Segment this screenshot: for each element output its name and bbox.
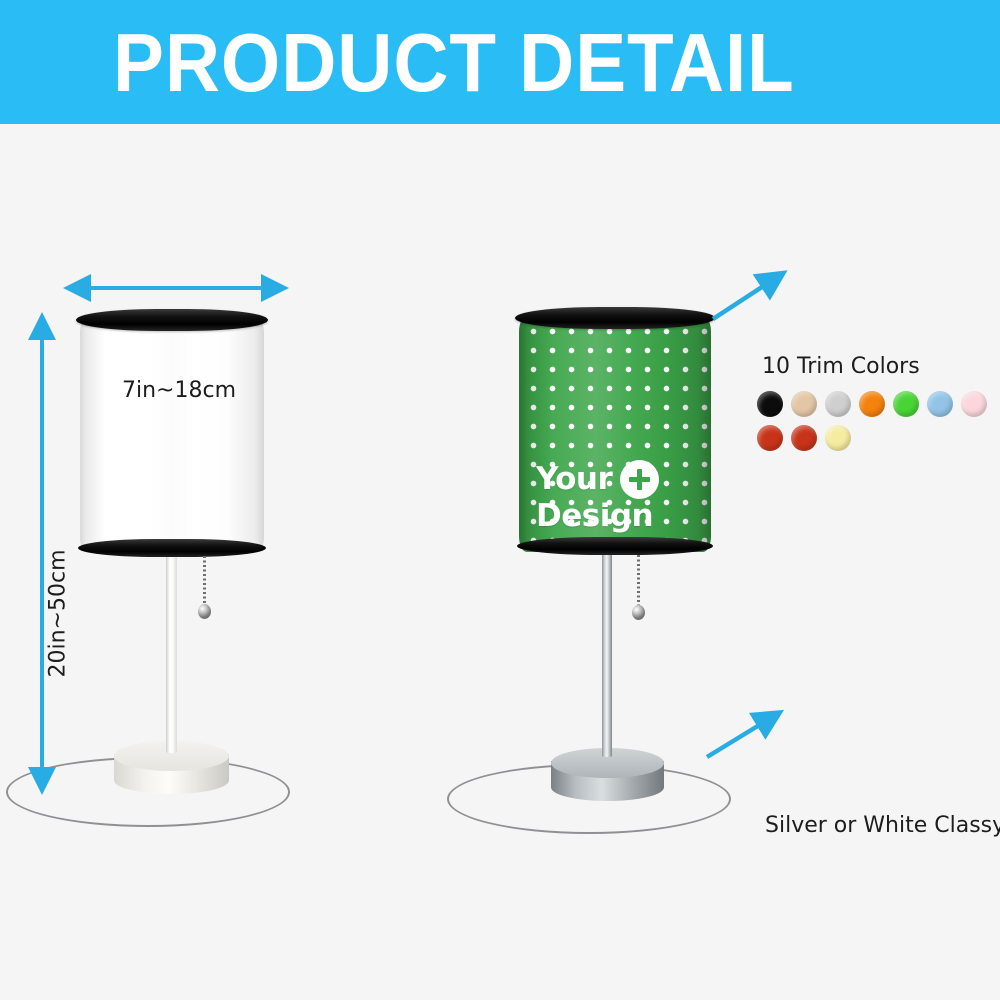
width-dimension-label: 7in~18cm [122,378,236,403]
trim-colors-pointer-arrow [703,279,773,327]
header-banner: PRODUCT DETAIL [0,0,1000,124]
white-lamp-shade-body [80,317,264,553]
page-title: PRODUCT DETAIL [113,21,795,104]
trim-swatch-red[interactable] [791,425,817,451]
trim-swatch-yellow[interactable] [825,425,851,451]
trim-swatch-green[interactable] [893,391,919,417]
trim-swatch-tan[interactable] [791,391,817,417]
green-lamp-trim-top [515,307,715,329]
trim-swatch-pink[interactable] [961,391,987,417]
base-finish-label: Silver or White Classy [765,813,1000,838]
green-lamp-trim-bottom [517,537,713,555]
white-lamp-pole [166,553,177,753]
white-lamp-pull-chain-knob[interactable] [198,604,211,619]
height-dimension-arrow [31,327,55,780]
your-design-text-design: Design [536,502,653,531]
white-lamp-shade [80,317,264,553]
your-design-line-1: Your [536,460,659,499]
width-dimension-arrow [78,276,274,300]
white-lamp-trim-bottom [78,539,266,557]
trim-color-swatches [757,391,1000,451]
your-design-line-2: Design [536,502,659,531]
white-lamp-pull-chain[interactable] [203,556,206,608]
trim-swatch-dark-red[interactable] [757,425,783,451]
green-lamp-pull-chain[interactable] [637,555,640,609]
your-design-artwork: Your Design [536,460,659,531]
green-lamp-shade: Your Design [519,316,711,552]
plus-icon [620,460,659,499]
trim-swatch-orange[interactable] [859,391,885,417]
product-detail-stage: Your Design 7in~18cm 20in~ [0,124,1000,1000]
your-design-text-your: Your [536,465,612,494]
trim-swatch-light-gray[interactable] [825,391,851,417]
trim-swatch-black[interactable] [757,391,783,417]
green-lamp-pull-chain-knob[interactable] [632,605,645,620]
trim-swatch-light-blue[interactable] [927,391,953,417]
trim-colors-label: 10 Trim Colors [762,354,920,379]
green-lamp-pole [602,552,612,757]
white-lamp-trim-top [76,309,268,331]
base-finish-pointer-arrow [695,715,771,767]
